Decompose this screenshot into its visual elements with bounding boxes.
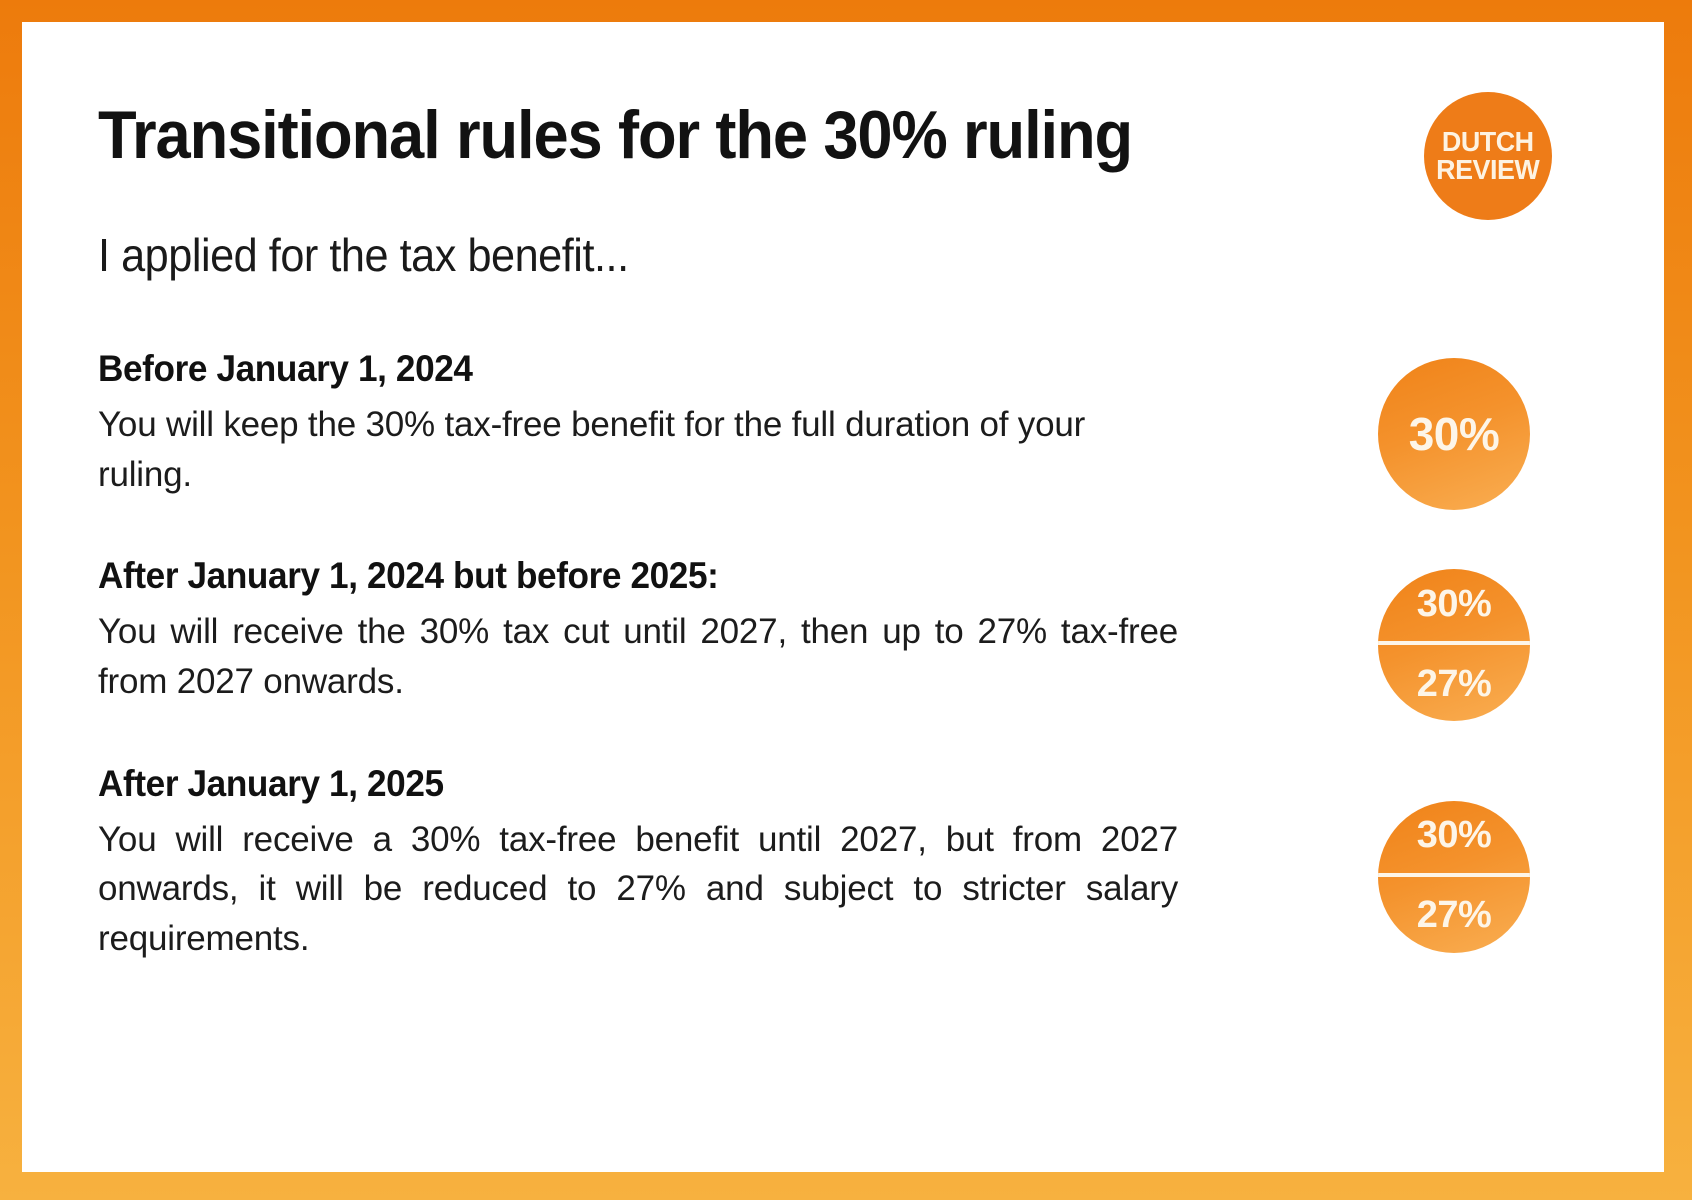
section-before-2024: Before January 1, 2024 You will keep the… <box>98 348 1594 499</box>
infographic-frame: Transitional rules for the 30% ruling DU… <box>0 0 1692 1200</box>
section-body: You will receive a 30% tax-free benefit … <box>98 815 1178 964</box>
section-heading: After January 1, 2024 but before 2025: <box>98 555 1143 597</box>
subtitle: I applied for the tax benefit... <box>98 228 1504 282</box>
section-after-2024-before-2025: After January 1, 2024 but before 2025: Y… <box>98 555 1594 706</box>
percent-value-bottom: 27% <box>1378 645 1530 721</box>
section-heading: Before January 1, 2024 <box>98 348 1143 390</box>
section-text: After January 1, 2025 You will receive a… <box>98 763 1198 964</box>
dutch-review-logo: DUTCH REVIEW <box>1424 92 1552 220</box>
section-after-2025: After January 1, 2025 You will receive a… <box>98 763 1594 964</box>
percent-badge-30-27: 30% 27% <box>1378 801 1530 953</box>
section-heading: After January 1, 2025 <box>98 763 1143 805</box>
logo-line-2: REVIEW <box>1436 156 1539 184</box>
percent-value-top: 30% <box>1378 569 1530 645</box>
percent-value: 30% <box>1409 407 1500 461</box>
section-body: You will keep the 30% tax-free benefit f… <box>98 400 1178 499</box>
header: Transitional rules for the 30% ruling DU… <box>98 82 1594 202</box>
percent-value-top: 30% <box>1378 801 1530 877</box>
sections-list: Before January 1, 2024 You will keep the… <box>98 348 1594 964</box>
logo-line-1: DUTCH <box>1442 128 1534 156</box>
infographic-card: Transitional rules for the 30% ruling DU… <box>22 22 1664 1172</box>
percent-badge-30: 30% <box>1378 358 1530 510</box>
section-body: You will receive the 30% tax cut until 2… <box>98 607 1178 706</box>
percent-value-bottom: 27% <box>1378 877 1530 953</box>
section-text: After January 1, 2024 but before 2025: Y… <box>98 555 1198 706</box>
percent-badge-30-27: 30% 27% <box>1378 569 1530 721</box>
page-title: Transitional rules for the 30% ruling <box>98 82 1489 171</box>
section-text: Before January 1, 2024 You will keep the… <box>98 348 1198 499</box>
